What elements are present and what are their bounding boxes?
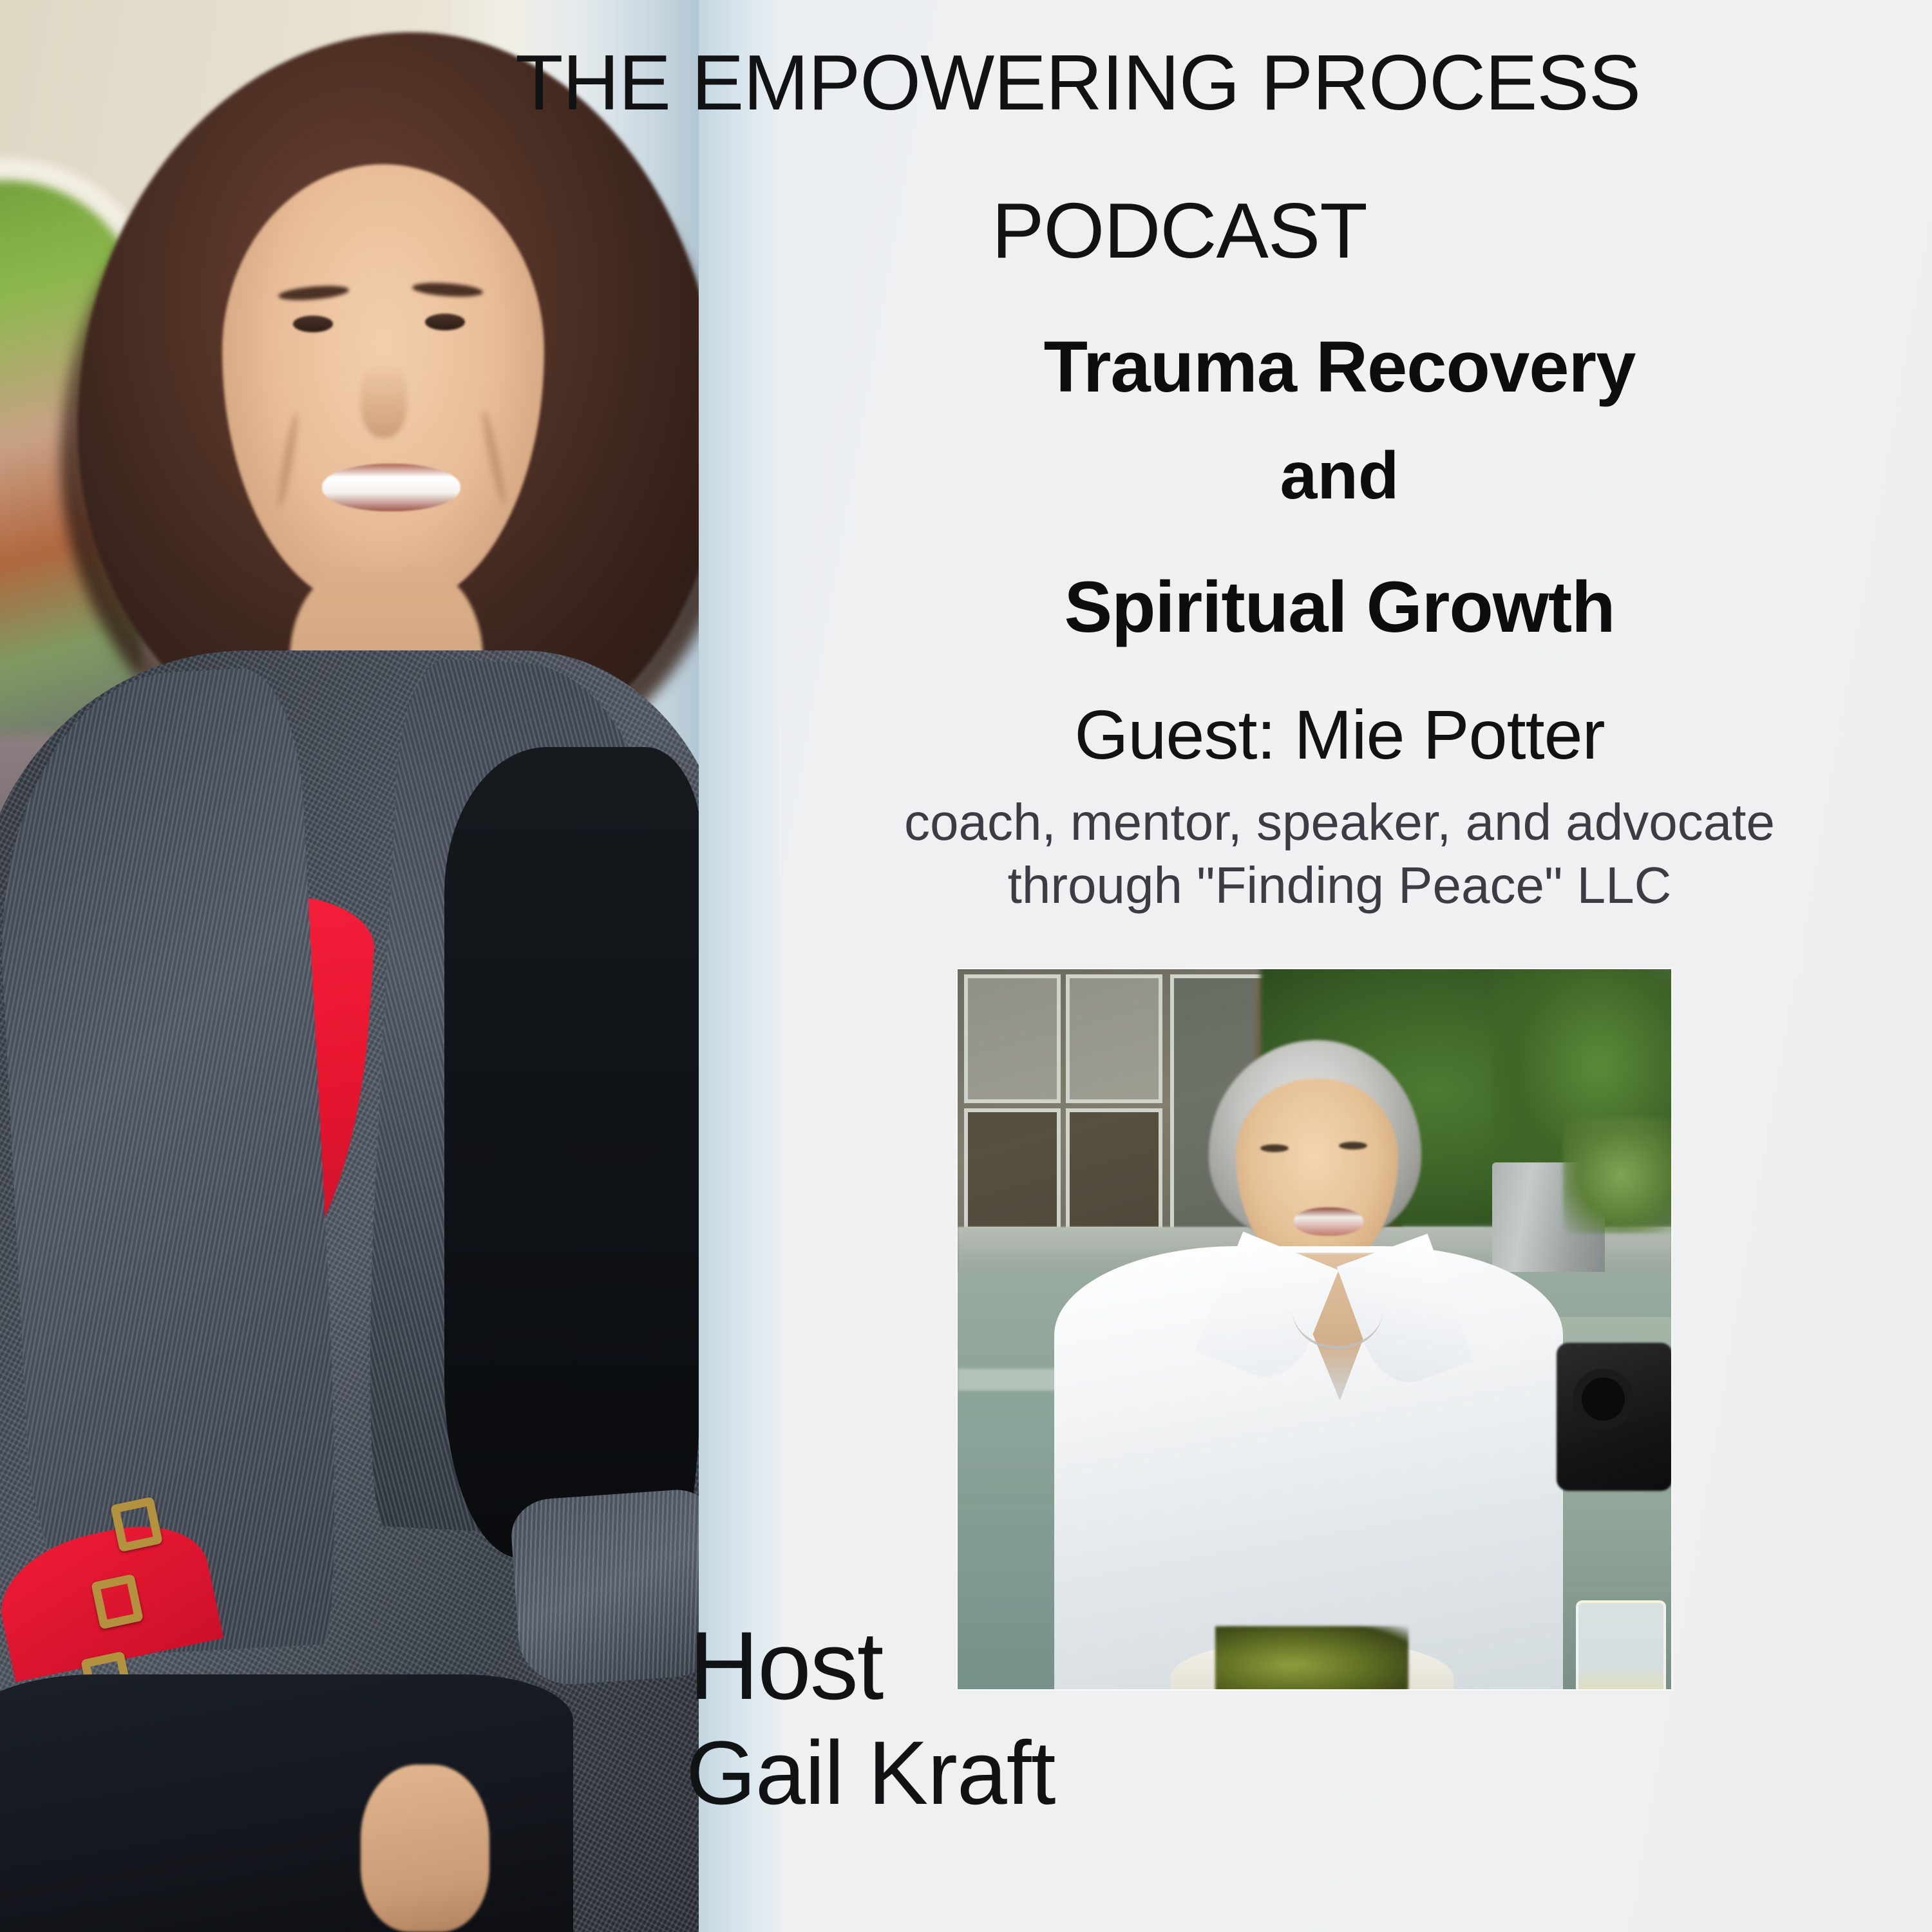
episode-topic-connector: and: [747, 438, 1932, 515]
guest-photo-window-pane: [1066, 974, 1162, 1103]
guest-photo-window-pane: [964, 974, 1061, 1103]
host-eye-right: [425, 314, 465, 330]
host-eye-left: [293, 316, 333, 332]
guest-eye-left: [1260, 1144, 1289, 1152]
host-trousers: [0, 1674, 573, 1932]
host-jacket-cuff: [509, 1487, 699, 1688]
guest-role-description: coach, mentor, speaker, and advocate thr…: [747, 791, 1932, 916]
host-hand: [361, 1765, 489, 1932]
page-title-line-2: PODCAST: [992, 187, 1367, 275]
guest-role-line-1: coach, mentor, speaker, and advocate: [747, 791, 1932, 854]
guest-photo-camera-lens: [1573, 1368, 1634, 1430]
host-nose: [361, 361, 407, 438]
guest-mouth: [1294, 1207, 1363, 1236]
host-mouth: [322, 464, 460, 511]
host-name: Gail Kraft: [686, 1721, 1056, 1825]
episode-topic-line-1: Trauma Recovery: [747, 325, 1932, 408]
host-label: Host: [689, 1610, 882, 1721]
guest-photo-window-pane: [1066, 1108, 1162, 1231]
page-title-line-1: THE EMPOWERING PROCESS: [515, 39, 1640, 127]
guest-eye-right: [1339, 1142, 1367, 1150]
host-photo: [0, 0, 699, 1932]
guest-name-label: Guest: Mie Potter: [747, 694, 1932, 775]
episode-topic-line-2: Spiritual Growth: [747, 565, 1932, 649]
host-jacket-sleeve: [444, 747, 699, 1558]
guest-photo-window-pane: [964, 1108, 1061, 1231]
guest-photo: [958, 969, 1671, 1689]
guest-photo-drink-glass: [1576, 1600, 1666, 1689]
host-jacket-lapel-left: [0, 665, 347, 1659]
podcast-cover-art: THE EMPOWERING PROCESS PODCAST Trauma Re…: [0, 0, 1932, 1932]
guest-photo-salad: [1215, 1626, 1408, 1689]
guest-photo-potted-plant: [1563, 1117, 1671, 1233]
guest-necklace: [1293, 1272, 1383, 1349]
guest-role-line-2: through "Finding Peace" LLC: [747, 854, 1932, 917]
